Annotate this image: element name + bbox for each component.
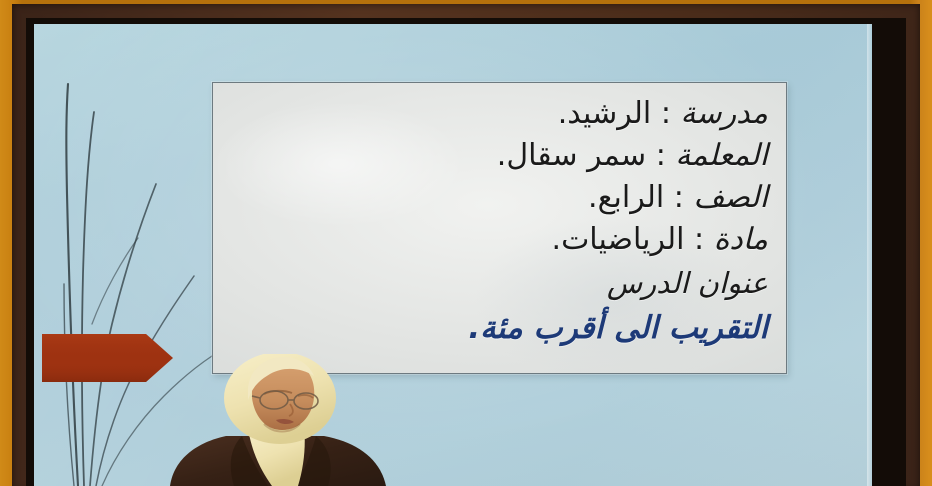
video-frame: مدرسة : الرشيد. المعلمة : سمر سقال. الصف… — [0, 0, 932, 486]
grade-separator: : — [674, 180, 684, 215]
slide-line-subject: مادة : الرياضيات. — [231, 219, 768, 261]
screen-right-highlight — [867, 24, 872, 486]
grade-value: الرابع. — [588, 180, 664, 215]
school-value: الرشيد. — [558, 96, 652, 131]
lesson-heading: عنوان الدرس — [231, 261, 768, 305]
grade-label: الصف — [693, 180, 768, 215]
school-label: مدرسة — [680, 96, 768, 131]
subject-value: الرياضيات. — [552, 222, 685, 257]
presenter-figure — [164, 354, 394, 486]
projection-screen: مدرسة : الرشيد. المعلمة : سمر سقال. الصف… — [34, 24, 872, 486]
teacher-separator: : — [656, 138, 666, 173]
arrow-banner — [42, 332, 173, 384]
teacher-value: سمر سقال. — [497, 138, 646, 173]
slide-content-box: مدرسة : الرشيد. المعلمة : سمر سقال. الصف… — [212, 82, 787, 374]
slide-line-teacher: المعلمة : سمر سقال. — [231, 135, 768, 177]
subject-separator: : — [694, 222, 704, 257]
subject-label: مادة — [714, 222, 768, 257]
teacher-label: المعلمة — [675, 138, 768, 173]
slide-line-school: مدرسة : الرشيد. — [231, 93, 768, 135]
slide-text-lines: مدرسة : الرشيد. المعلمة : سمر سقال. الصف… — [213, 83, 786, 373]
school-separator: : — [661, 96, 671, 131]
lesson-title: التقريب الى أقرب مئة. — [231, 305, 768, 351]
slide-line-grade: الصف : الرابع. — [231, 177, 768, 219]
